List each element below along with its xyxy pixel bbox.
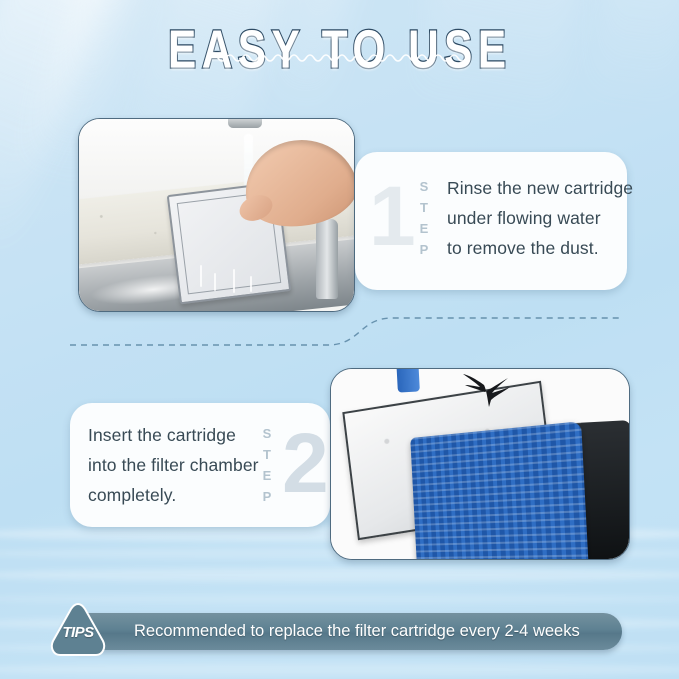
title-underline-wave-icon bbox=[0, 50, 679, 68]
step-1-word-letter-p: P bbox=[417, 239, 431, 260]
tips-text: Recommended to replace the filter cartri… bbox=[134, 622, 580, 641]
step-2-number: 2 bbox=[282, 421, 329, 505]
step-1-word-letter-s: S bbox=[417, 176, 431, 197]
step-1-word-letter-e: E bbox=[417, 218, 431, 239]
step-2-word-letter-s: S bbox=[260, 423, 274, 444]
step-1-line-2: under flowing water bbox=[447, 208, 601, 229]
infographic-page: EASY TO USE 1 S bbox=[0, 0, 679, 679]
step-1-photo bbox=[78, 118, 355, 312]
step-1-text-card: 1 S T E P Rinse the new cartridge under … bbox=[355, 152, 627, 290]
page-title-text: EASY TO USE bbox=[168, 18, 512, 81]
step-1-number: 1 bbox=[369, 174, 416, 258]
whale-tail-icon bbox=[462, 373, 516, 407]
faucet-body-icon bbox=[316, 219, 338, 300]
step-1-word-letter-t: T bbox=[417, 197, 431, 218]
step-2-word-letter-t: T bbox=[260, 444, 274, 465]
background-light-streaks bbox=[0, 0, 679, 679]
step-2-line-2: into the filter chamber bbox=[88, 455, 259, 476]
step-2-line-3: completely. bbox=[88, 485, 176, 506]
step-1-line-1: Rinse the new cartridge bbox=[447, 178, 633, 199]
step-2-text-card: Insert the cartridge into the filter cha… bbox=[70, 403, 330, 527]
step-2-word-letter-e: E bbox=[260, 465, 274, 486]
blue-filter-chamber-icon bbox=[411, 421, 589, 560]
step-2-word-letter-p: P bbox=[260, 486, 274, 507]
step-2-line-1: Insert the cartridge bbox=[88, 425, 236, 446]
step-1-line-3: to remove the dust. bbox=[447, 238, 599, 259]
step-2-photo bbox=[330, 368, 630, 560]
tips-badge-label: TIPS bbox=[47, 624, 109, 641]
tips-badge: TIPS bbox=[47, 601, 109, 659]
tips-bar: Recommended to replace the filter cartri… bbox=[62, 613, 622, 650]
faucet-spout-icon bbox=[228, 118, 262, 128]
